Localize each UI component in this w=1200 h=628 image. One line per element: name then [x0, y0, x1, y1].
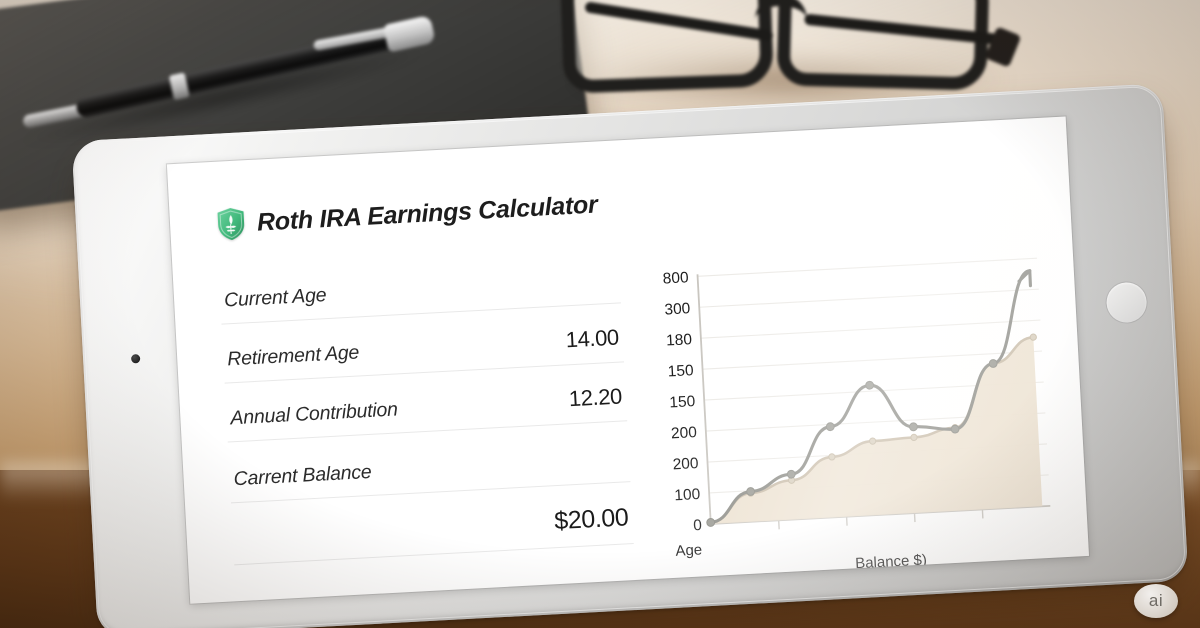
chart-data-point — [909, 423, 917, 431]
eyeglasses — [556, 0, 1026, 98]
chart-data-point — [951, 425, 959, 433]
y-axis-tick-label: 0 — [693, 517, 703, 534]
chart-data-point — [707, 518, 715, 526]
roth-ira-calculator-app: Roth IRA Earnings Calculator Current Age… — [167, 116, 1089, 603]
ai-watermark-badge: ai — [1134, 584, 1178, 618]
y-axis-tick-label: 150 — [669, 393, 696, 411]
chart-data-point — [747, 487, 755, 495]
green-shield-leaf-icon — [215, 206, 247, 242]
chart-gridline — [698, 258, 1038, 276]
field-value-total[interactable]: $20.00 — [554, 503, 630, 536]
chart-data-point — [989, 359, 997, 367]
field-value-annual-contribution[interactable]: 12.20 — [568, 384, 622, 413]
field-row-annual-contribution[interactable]: Annual Contribution 12.20 — [226, 381, 628, 442]
chart-plot-area: 8003001801501502002001000AgeBalance $) — [649, 240, 1066, 591]
chart-data-point — [829, 454, 836, 461]
y-axis-tick-label: 300 — [664, 300, 691, 318]
tablet-screen: Roth IRA Earnings Calculator Current Age… — [167, 116, 1089, 603]
calculator-form: Current Age Retirement Age 14.00 Annual … — [219, 262, 639, 603]
y-axis-tick-label: 150 — [667, 362, 694, 380]
chart-data-point — [869, 438, 876, 445]
field-row-current-balance[interactable]: Carrent Balance — [229, 445, 630, 503]
chart-data-point — [911, 434, 918, 441]
chart-svg: 8003001801501502002001000AgeBalance $) — [649, 244, 1065, 585]
y-axis-title: Age — [675, 541, 703, 559]
field-label-current-age: Current Age — [224, 284, 327, 312]
field-row-current-age[interactable]: Current Age — [220, 266, 621, 324]
app-body: Current Age Retirement Age 14.00 Annual … — [219, 240, 1052, 603]
chart-gridline — [701, 320, 1041, 338]
field-row-retirement-age[interactable]: Retirement Age 14.00 — [223, 322, 625, 383]
y-axis-tick-label: 200 — [672, 455, 699, 473]
page-title: Roth IRA Earnings Calculator — [256, 190, 598, 237]
glasses-bridge — [755, 0, 807, 28]
chart-gridline — [699, 289, 1039, 307]
chart-data-point — [1030, 334, 1037, 341]
field-label-current-balance: Carrent Balance — [233, 461, 372, 491]
y-axis-tick-label: 200 — [671, 424, 698, 442]
tablet-device: Roth IRA Earnings Calculator Current Age… — [72, 83, 1189, 628]
y-axis-tick-label: 100 — [674, 486, 701, 504]
field-label-retirement-age: Retirement Age — [227, 341, 360, 371]
field-row-total[interactable]: $20.00 — [232, 501, 634, 565]
app-header: Roth IRA Earnings Calculator — [215, 165, 1030, 242]
y-axis-tick-label: 180 — [666, 331, 693, 349]
chart-data-point — [866, 381, 874, 389]
field-label-annual-contribution: Annual Contribution — [230, 398, 398, 430]
chart-data-point — [787, 470, 795, 478]
desk-scene: Roth IRA Earnings Calculator Current Age… — [0, 0, 1200, 628]
earnings-chart: 8003001801501502002001000AgeBalance $) — [649, 240, 1069, 604]
chart-data-point — [826, 423, 834, 431]
y-axis-tick-label: 800 — [662, 269, 689, 287]
field-value-retirement-age[interactable]: 14.00 — [565, 325, 619, 354]
